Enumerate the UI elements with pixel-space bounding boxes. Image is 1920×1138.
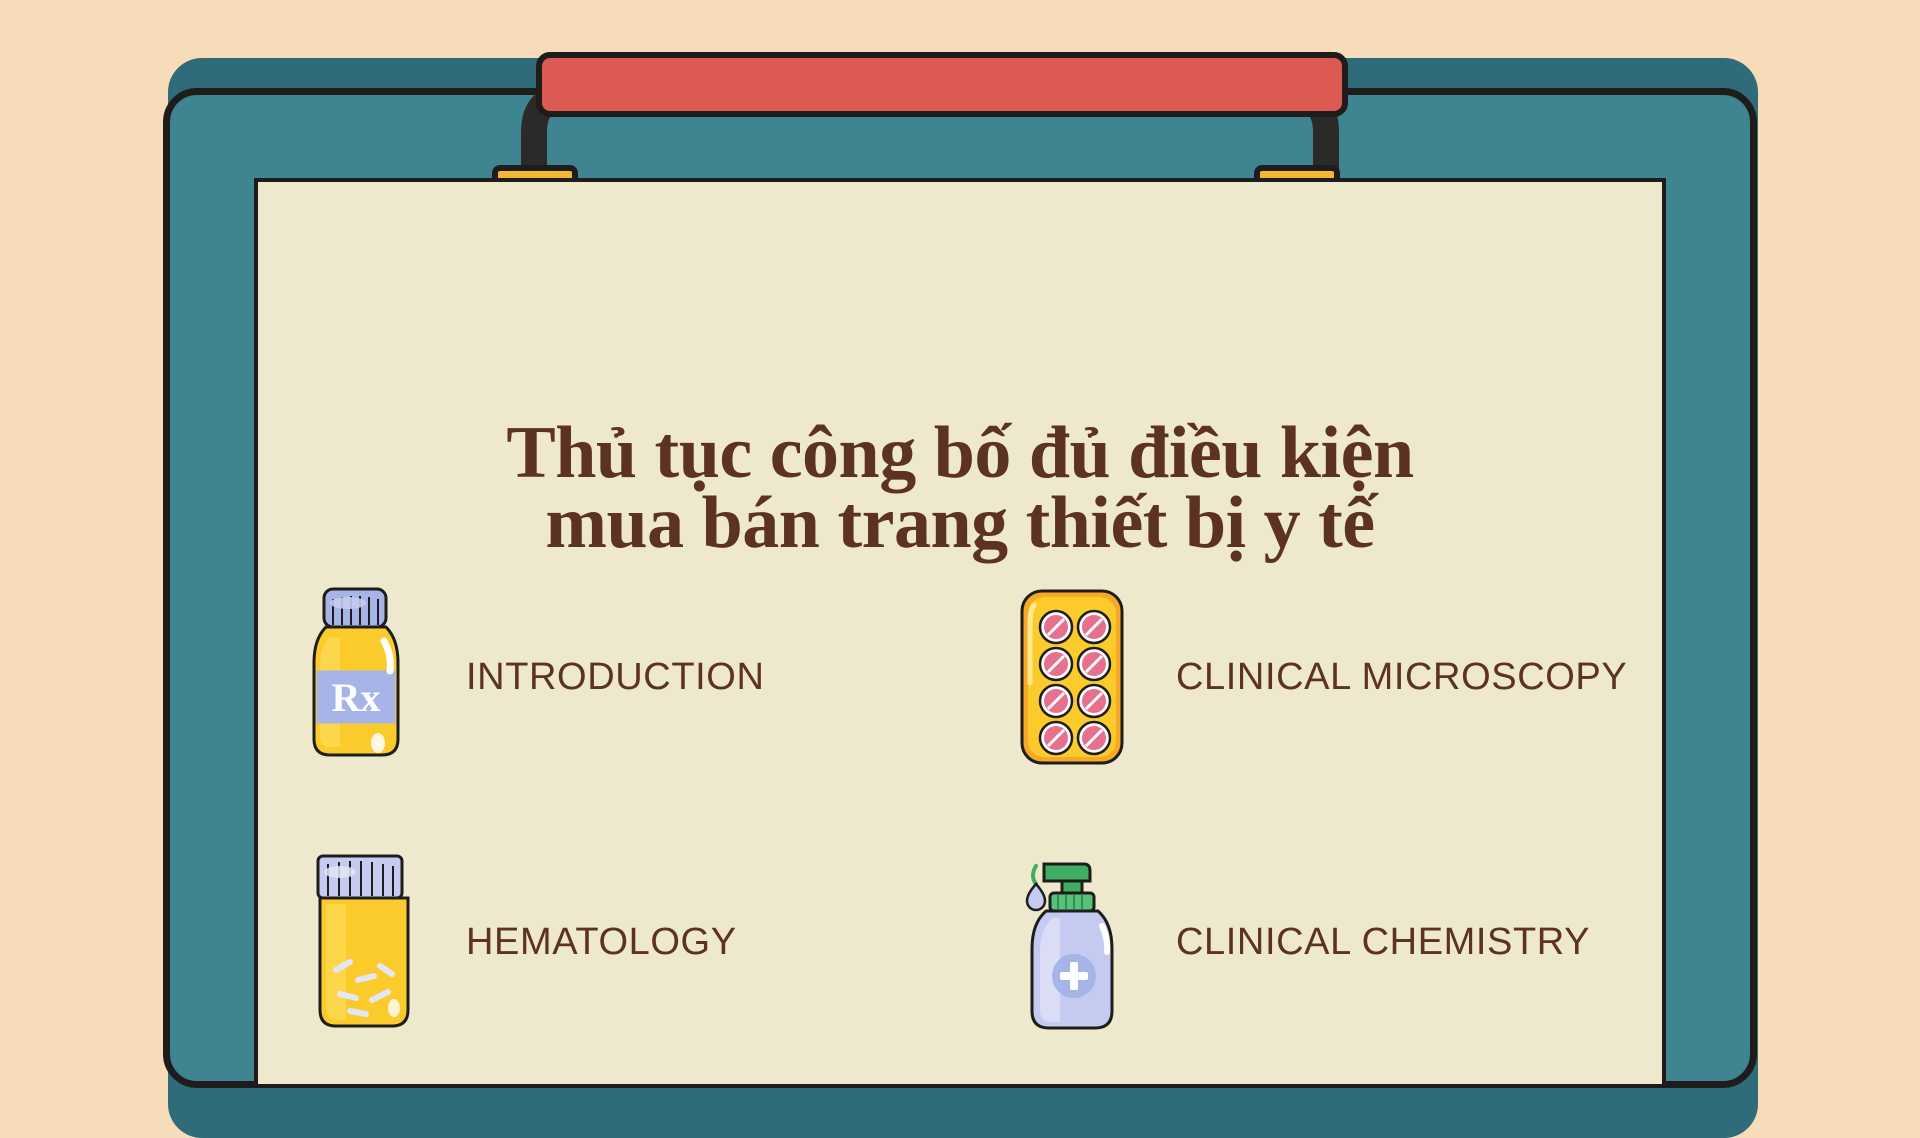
menu-item-clinical-microscopy[interactable]: CLINICAL MICROSCOPY <box>1010 560 1640 795</box>
page-title: Thủ tục công bố đủ điều kiện mua bán tra… <box>0 418 1920 559</box>
pill-bottle-icon <box>300 848 428 1038</box>
pill-blister-pack-icon <box>1010 583 1138 773</box>
menu-item-introduction[interactable]: Rx INTRODUCTION <box>300 560 930 795</box>
svg-text:Rx: Rx <box>332 675 381 720</box>
rx-medicine-bottle-icon: Rx <box>300 583 428 773</box>
clip-bar <box>536 52 1348 117</box>
menu-item-label: CLINICAL CHEMISTRY <box>1176 921 1590 965</box>
menu-item-clinical-chemistry[interactable]: CLINICAL CHEMISTRY <box>1010 825 1640 1060</box>
menu-item-hematology[interactable]: HEMATOLOGY <box>300 825 930 1060</box>
menu-item-label: HEMATOLOGY <box>466 921 737 965</box>
menu-item-label: INTRODUCTION <box>466 656 765 700</box>
poster-canvas: Thủ tục công bố đủ điều kiện mua bán tra… <box>0 0 1920 1080</box>
page-title-line2: mua bán trang thiết bị y tế <box>0 488 1920 558</box>
menu-grid: Rx INTRODUCTION <box>300 560 1640 1060</box>
menu-item-label: CLINICAL MICROSCOPY <box>1176 656 1627 700</box>
hand-sanitizer-bottle-icon <box>1010 848 1138 1038</box>
